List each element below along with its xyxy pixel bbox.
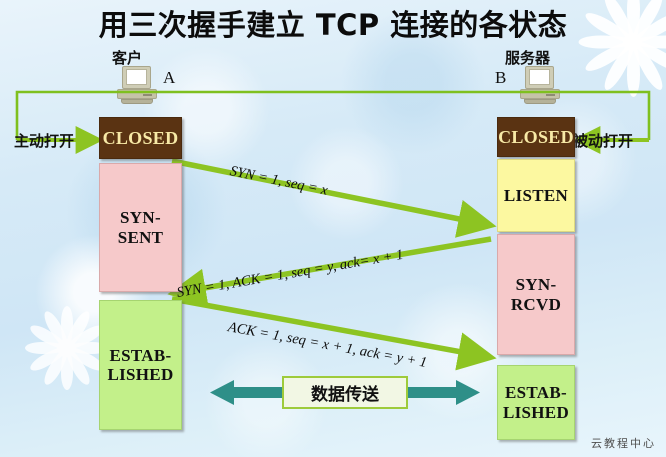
data-transfer-label: 数据传送 (282, 376, 408, 409)
client-state-established-line2: LISHED (107, 365, 173, 384)
watermark: 云教程中心 (591, 435, 656, 451)
client-state-syn-sent: SYN- SENT (99, 163, 182, 292)
message-arrow-1 (172, 161, 489, 225)
server-state-established-line1: ESTAB- (505, 383, 567, 402)
client-state-established: ESTAB- LISHED (99, 300, 182, 430)
client-state-established-line1: ESTAB- (110, 346, 172, 365)
tcp-handshake-diagram: 用三次握手建立 TCP 连接的各状态 客户 A 服务器 B (0, 0, 666, 457)
client-state-syn-sent-line2: SENT (118, 228, 164, 247)
server-state-syn-rcvd: SYN- RCVD (497, 234, 575, 355)
client-state-closed: CLOSED (99, 117, 182, 159)
active-open-label: 主动打开 (14, 130, 74, 151)
passive-open-label: 被动打开 (573, 130, 633, 151)
server-state-syn-rcvd-line1: SYN- (516, 275, 557, 294)
client-state-syn-sent-line1: SYN- (120, 208, 161, 227)
server-state-syn-rcvd-line2: RCVD (511, 295, 561, 314)
data-transfer-band: 数据传送 (210, 375, 480, 415)
server-state-listen: LISTEN (497, 159, 575, 232)
server-state-closed: CLOSED (497, 117, 575, 157)
server-state-established-line2: LISHED (503, 403, 569, 422)
server-state-established: ESTAB- LISHED (497, 365, 575, 440)
